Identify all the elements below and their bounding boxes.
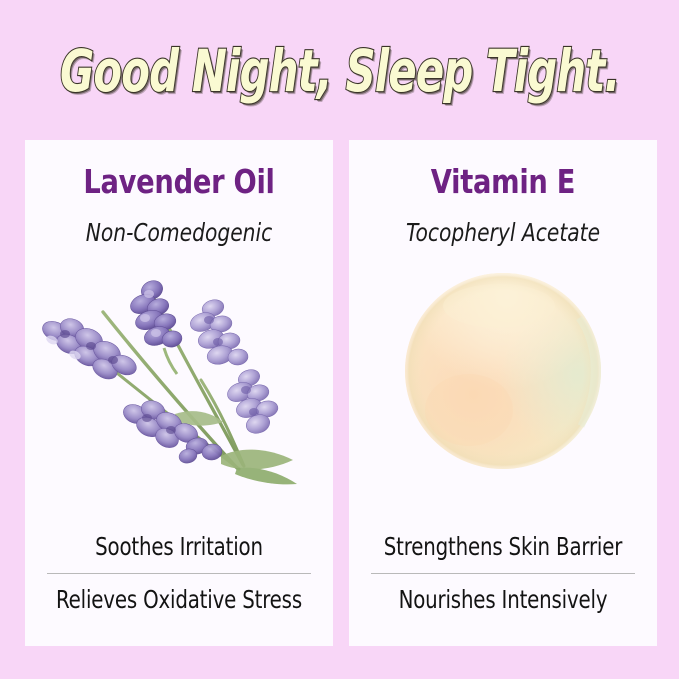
card-subheading-lavender-oil: Non-Comedogenic [40, 218, 317, 247]
vitamin-e-circle-icon [349, 260, 657, 510]
ingredient-card-vitamin-e: Vitamin E Tocopheryl Acetate [349, 140, 657, 646]
ingredient-card-lavender-oil: Lavender Oil Non-Comedogenic [25, 140, 333, 646]
card-heading-lavender-oil: Lavender Oil [37, 162, 320, 201]
ingredient-benefits-poster: Good Night, Sleep Tight. Lavender Oil No… [0, 0, 679, 679]
benefit-item: Strengthens Skin Barrier [367, 527, 638, 567]
benefit-list-vitamin-e: Strengthens Skin Barrier Nourishes Inten… [349, 527, 657, 621]
lavender-sprig-icon [25, 260, 333, 510]
benefit-divider [47, 573, 311, 574]
benefit-list-lavender-oil: Soothes Irritation Relieves Oxidative St… [25, 527, 333, 621]
benefit-item: Soothes Irritation [43, 527, 314, 567]
poster-title-area: Good Night, Sleep Tight. [0, 26, 679, 116]
card-heading-vitamin-e: Vitamin E [361, 162, 644, 201]
benefit-divider [371, 573, 635, 574]
card-subheading-vitamin-e: Tocopheryl Acetate [364, 218, 641, 247]
page-title: Good Night, Sleep Tight. [60, 42, 620, 100]
benefit-item: Nourishes Intensively [367, 580, 638, 620]
benefit-item: Relieves Oxidative Stress [43, 580, 314, 620]
